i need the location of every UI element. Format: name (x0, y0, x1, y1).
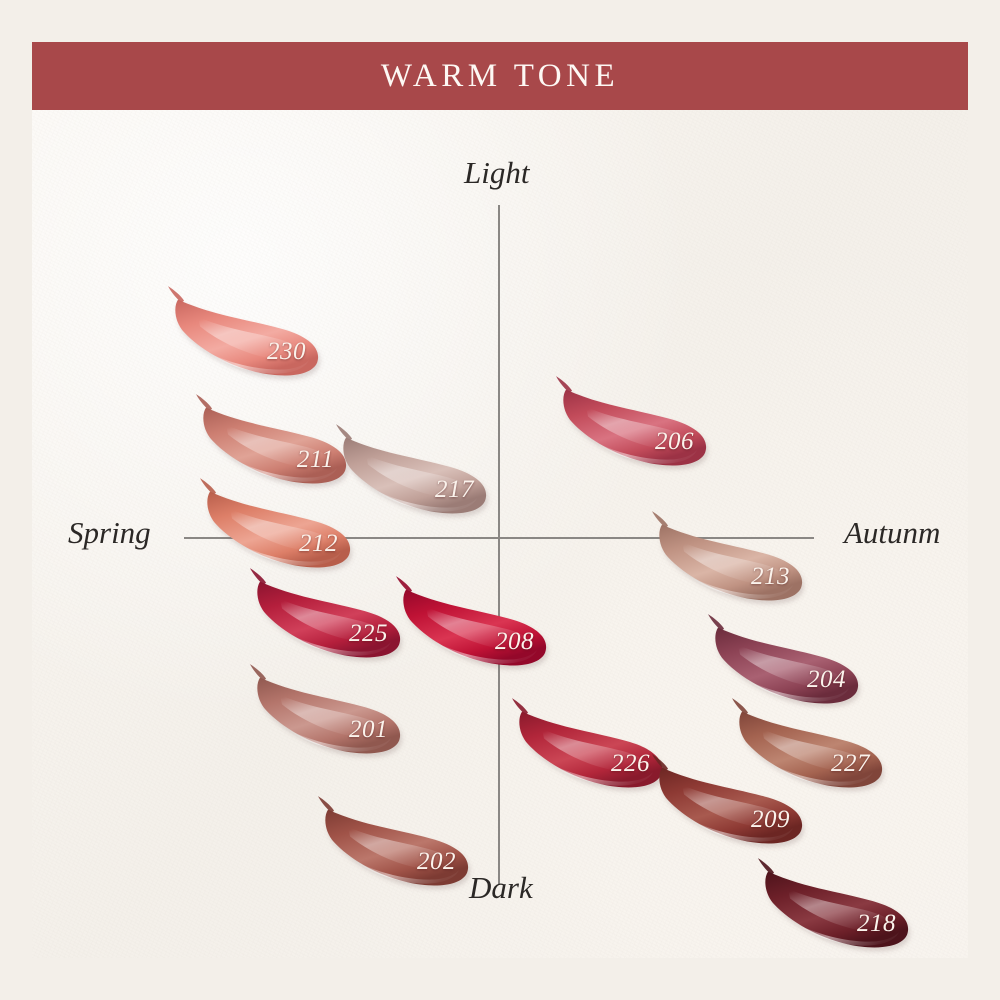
shade-swatch-212[interactable]: 212 (204, 482, 354, 574)
shade-swatch-218[interactable]: 218 (762, 862, 912, 954)
paper-texture (32, 110, 968, 958)
shade-swatch-211[interactable]: 211 (200, 398, 350, 490)
axis-label-light: Light (464, 155, 529, 191)
shade-swatch-201[interactable]: 201 (254, 668, 404, 760)
swatch-tail (708, 614, 724, 630)
shade-swatch-213[interactable]: 213 (656, 515, 806, 607)
swatch-tail (556, 376, 572, 392)
header-banner: WARM TONE (32, 42, 968, 110)
shade-swatch-209[interactable]: 209 (656, 758, 806, 850)
shade-swatch-208[interactable]: 208 (400, 580, 550, 672)
swatch-tail (196, 394, 212, 410)
swatch-tail (652, 511, 668, 527)
page-title: WARM TONE (381, 58, 619, 95)
axis-label-spring: Spring (68, 515, 151, 551)
chart-canvas: Light Dark Spring Autunm 230211217212225… (32, 110, 968, 958)
swatch-tail (168, 286, 184, 302)
swatch-tail (758, 858, 774, 874)
swatch-tail (318, 796, 334, 812)
shade-swatch-202[interactable]: 202 (322, 800, 472, 892)
shade-swatch-226[interactable]: 226 (516, 702, 666, 794)
shade-swatch-230[interactable]: 230 (172, 290, 322, 382)
axis-vertical (498, 205, 500, 885)
axis-label-dark: Dark (469, 870, 533, 906)
shade-swatch-225[interactable]: 225 (254, 572, 404, 664)
swatch-tail (250, 664, 266, 680)
shade-swatch-204[interactable]: 204 (712, 618, 862, 710)
shade-swatch-217[interactable]: 217 (340, 428, 490, 520)
shade-swatch-206[interactable]: 206 (560, 380, 710, 472)
axis-label-autumn: Autunm (844, 515, 940, 551)
swatch-tail (512, 698, 528, 714)
warm-tone-shade-chart: WARM TONE Light Dark Spring Autunm 23021… (0, 0, 1000, 1000)
